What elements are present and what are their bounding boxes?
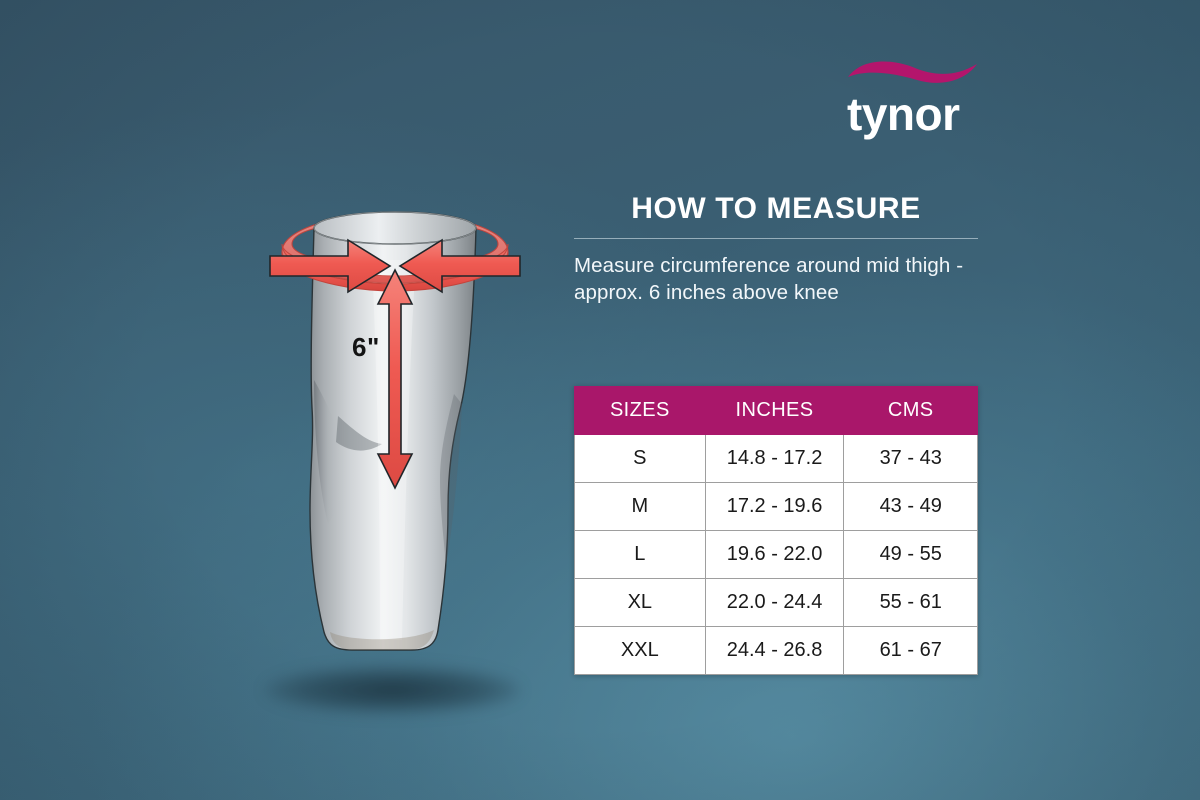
table-row: XL 22.0 - 24.4 55 - 61 bbox=[575, 579, 978, 627]
table-row: M 17.2 - 19.6 43 - 49 bbox=[575, 483, 978, 531]
cell-inches: 19.6 - 22.0 bbox=[705, 531, 844, 579]
cell-inches: 24.4 - 26.8 bbox=[705, 627, 844, 675]
size-chart-canvas: tynor bbox=[0, 0, 1200, 800]
measure-description: Measure circumference around mid thigh -… bbox=[574, 252, 978, 306]
size-chart-table: SIZES INCHES CMS S 14.8 - 17.2 37 - 43 M… bbox=[574, 386, 978, 675]
table-row: L 19.6 - 22.0 49 - 55 bbox=[575, 531, 978, 579]
cell-cms: 55 - 61 bbox=[844, 579, 978, 627]
leg-diagram-icon bbox=[240, 180, 550, 720]
column-header-sizes: SIZES bbox=[575, 387, 706, 435]
cell-size: S bbox=[575, 435, 706, 483]
cell-inches: 17.2 - 19.6 bbox=[705, 483, 844, 531]
title-divider bbox=[574, 238, 978, 239]
cell-cms: 37 - 43 bbox=[844, 435, 978, 483]
cell-cms: 43 - 49 bbox=[844, 483, 978, 531]
table-header-row: SIZES INCHES CMS bbox=[575, 387, 978, 435]
column-header-cms: CMS bbox=[844, 387, 978, 435]
distance-label: 6" bbox=[352, 332, 380, 363]
column-header-inches: INCHES bbox=[705, 387, 844, 435]
cell-cms: 49 - 55 bbox=[844, 531, 978, 579]
brand-wordmark: tynor bbox=[847, 91, 960, 137]
table-row: XXL 24.4 - 26.8 61 - 67 bbox=[575, 627, 978, 675]
cell-size: XL bbox=[575, 579, 706, 627]
cell-size: M bbox=[575, 483, 706, 531]
cell-size: XXL bbox=[575, 627, 706, 675]
cell-cms: 61 - 67 bbox=[844, 627, 978, 675]
how-to-measure-block: HOW TO MEASURE Measure circumference aro… bbox=[574, 192, 978, 306]
brand-logo: tynor bbox=[845, 55, 995, 145]
table-row: S 14.8 - 17.2 37 - 43 bbox=[575, 435, 978, 483]
cell-size: L bbox=[575, 531, 706, 579]
cell-inches: 14.8 - 17.2 bbox=[705, 435, 844, 483]
leg-illustration: 6" bbox=[240, 180, 550, 720]
cell-inches: 22.0 - 24.4 bbox=[705, 579, 844, 627]
page-title: HOW TO MEASURE bbox=[574, 192, 978, 225]
